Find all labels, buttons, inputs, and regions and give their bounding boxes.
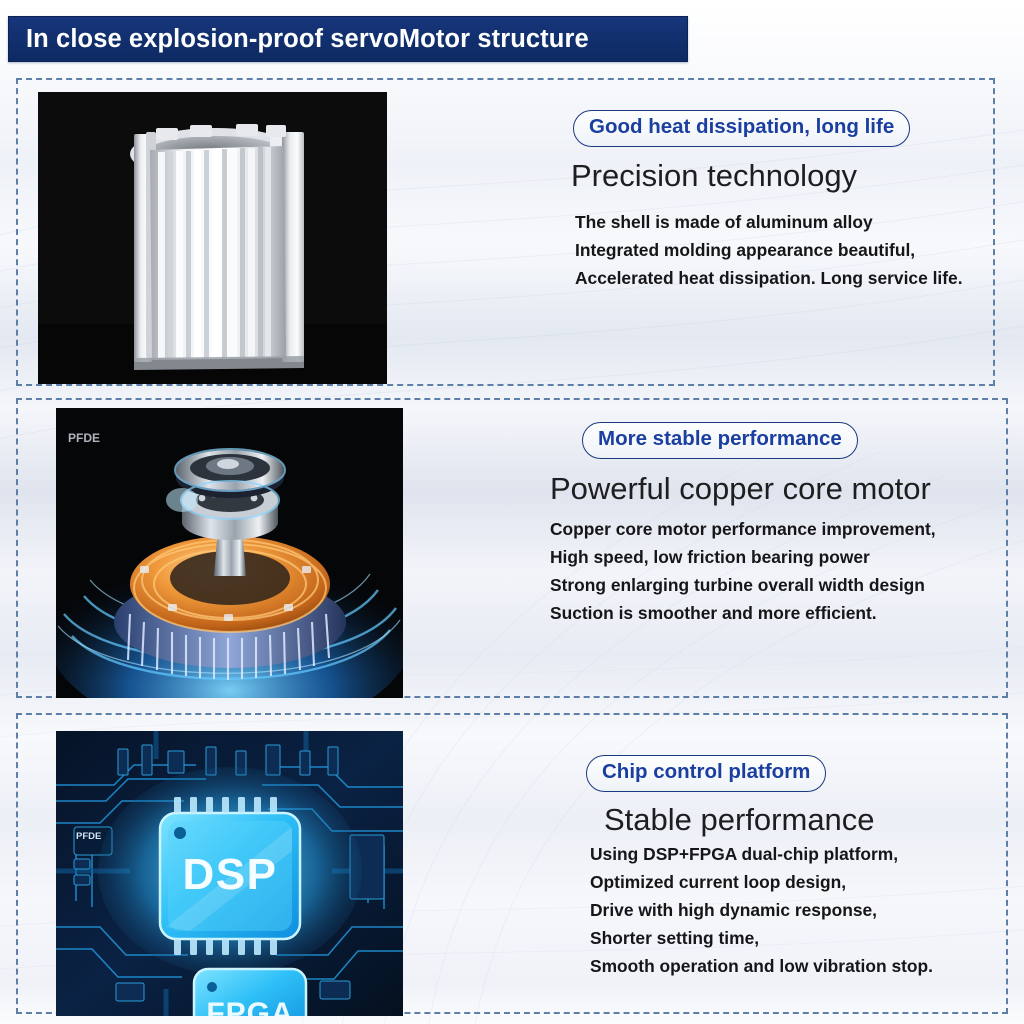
- feature-copy-precision-technology: Good heat dissipation, long life Precisi…: [553, 110, 993, 292]
- feature-section-copper-core-motor: PFDE PFDE More stable performance Powerf…: [16, 398, 1008, 698]
- feature-section-precision-technology: Good heat dissipation, long life Precisi…: [16, 78, 995, 386]
- feature-headline: Precision technology: [571, 158, 993, 194]
- feature-copy-copper-core-motor: More stable performance Powerful copper …: [530, 422, 1000, 627]
- dsp-fpga-circuit-board-photo: PFDE DSP: [56, 731, 403, 1016]
- feature-headline: Stable performance: [604, 802, 1008, 838]
- list-item: Optimized current loop design,: [590, 868, 1008, 896]
- badge-wrapper: Chip control platform: [568, 755, 1008, 792]
- page-title-banner: In close explosion-proof servoMotor stru…: [8, 16, 688, 62]
- svg-text:FPGA: FPGA: [206, 997, 293, 1016]
- feature-bullet-list: Copper core motor performance improvemen…: [550, 515, 1000, 628]
- status-badge: Chip control platform: [586, 755, 826, 792]
- list-item: High speed, low friction bearing power: [550, 543, 1000, 571]
- status-badge: Good heat dissipation, long life: [573, 110, 910, 147]
- page-title: In close explosion-proof servoMotor stru…: [9, 25, 589, 54]
- feature-section-stable-performance: PFDE DSP: [16, 713, 1008, 1014]
- product-feature-poster: In close explosion-proof servoMotor stru…: [0, 0, 1024, 1024]
- feature-bullet-list: The shell is made of aluminum alloy Inte…: [575, 208, 993, 293]
- badge-wrapper: More stable performance: [530, 422, 1000, 459]
- list-item: Strong enlarging turbine overall width d…: [550, 571, 1000, 599]
- status-badge: More stable performance: [582, 422, 858, 459]
- feature-headline: Powerful copper core motor: [550, 471, 1000, 507]
- svg-text:DSP: DSP: [183, 850, 278, 899]
- list-item: Using DSP+FPGA dual-chip platform,: [590, 840, 1008, 868]
- list-item: Smooth operation and low vibration stop.: [590, 952, 1008, 980]
- list-item: Shorter setting time,: [590, 924, 1008, 952]
- copper-core-motor-photo: PFDE PFDE: [56, 408, 403, 698]
- svg-text:PFDE: PFDE: [76, 831, 101, 842]
- list-item: Accelerated heat dissipation. Long servi…: [575, 264, 993, 292]
- aluminum-heat-sink-photo: [38, 92, 387, 384]
- list-item: The shell is made of aluminum alloy: [575, 208, 993, 236]
- feature-bullet-list: Using DSP+FPGA dual-chip platform, Optim…: [590, 840, 1008, 981]
- list-item: Suction is smoother and more efficient.: [550, 599, 1000, 627]
- list-item: Integrated molding appearance beautiful,: [575, 236, 993, 264]
- list-item: Drive with high dynamic response,: [590, 896, 1008, 924]
- feature-copy-stable-performance: Chip control platform Stable performance…: [568, 755, 1008, 980]
- list-item: Copper core motor performance improvemen…: [550, 515, 1000, 543]
- badge-wrapper: Good heat dissipation, long life: [553, 110, 993, 147]
